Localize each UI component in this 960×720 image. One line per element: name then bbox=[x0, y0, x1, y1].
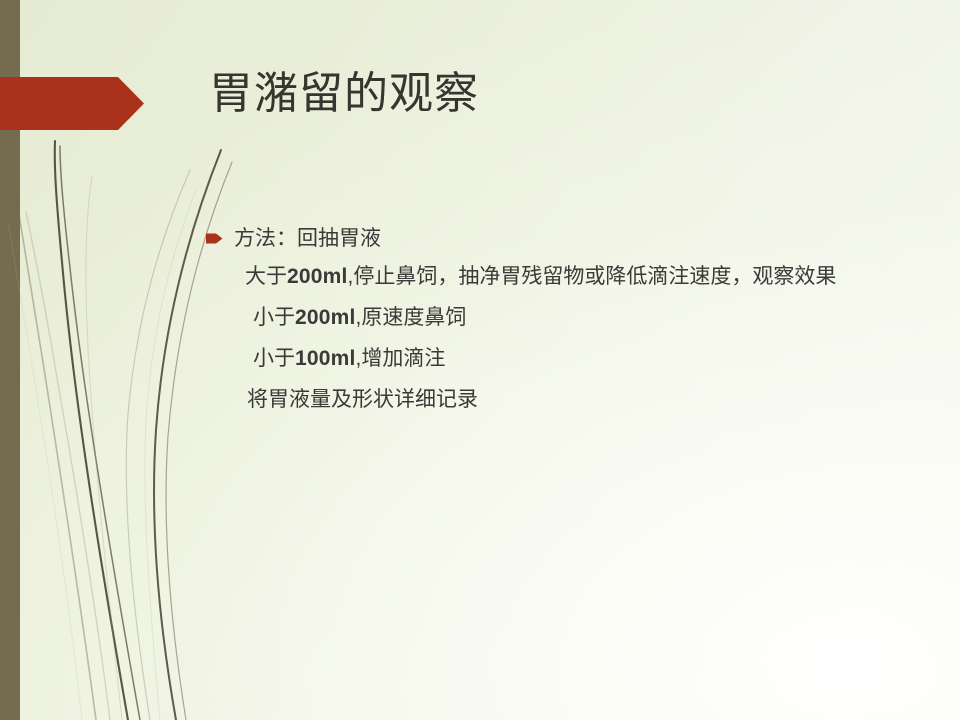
body-line-gt-200-text: 大于200ml,停止鼻饲，抽净胃残留物或降低滴注速度，观察效果 bbox=[245, 265, 836, 288]
body-line-lt-100-text: 小于100ml,增加滴注 bbox=[253, 347, 445, 370]
text-segment: ,停止鼻饲，抽净胃残留物或降低滴注速度，观察效果 bbox=[348, 265, 837, 288]
body-line-lt-100: 小于100ml,增加滴注 bbox=[253, 344, 906, 374]
body-line-gt-200: 大于200ml,停止鼻饲，抽净胃残留物或降低滴注速度，观察效果 bbox=[245, 262, 905, 292]
body-line-lt-200-text: 小于200ml,原速度鼻饲 bbox=[253, 306, 466, 329]
text-segment: 200ml bbox=[295, 306, 356, 329]
text-segment: 大于 bbox=[245, 265, 287, 288]
body-line-record: 将胃液量及形状详细记录 bbox=[247, 385, 906, 415]
text-segment: ,增加滴注 bbox=[356, 347, 446, 370]
text-segment: 小于 bbox=[253, 306, 295, 329]
bullet-label: 方法：回抽胃液 bbox=[234, 224, 381, 254]
arrow-bullet-icon bbox=[206, 224, 234, 244]
slide-body: 方法：回抽胃液 大于200ml,停止鼻饲，抽净胃残留物或降低滴注速度，观察效果 … bbox=[206, 224, 906, 415]
text-segment: ,原速度鼻饲 bbox=[356, 306, 467, 329]
title-arrow-banner bbox=[0, 77, 144, 130]
text-segment: 小于 bbox=[253, 347, 295, 370]
page-title: 胃潴留的观察 bbox=[209, 68, 909, 120]
text-segment: 100ml bbox=[295, 347, 356, 370]
body-line-record-text: 将胃液量及形状详细记录 bbox=[247, 388, 478, 411]
bullet-item-method: 方法：回抽胃液 bbox=[206, 224, 906, 254]
presentation-slide: 胃潴留的观察 方法：回抽胃液 大于200ml,停止鼻饲，抽净胃残留物或降低滴注速… bbox=[0, 0, 960, 720]
text-segment: 200ml bbox=[287, 265, 348, 288]
text-segment: 将胃液量及形状详细记录 bbox=[247, 388, 478, 411]
body-line-lt-200: 小于200ml,原速度鼻饲 bbox=[253, 303, 906, 333]
